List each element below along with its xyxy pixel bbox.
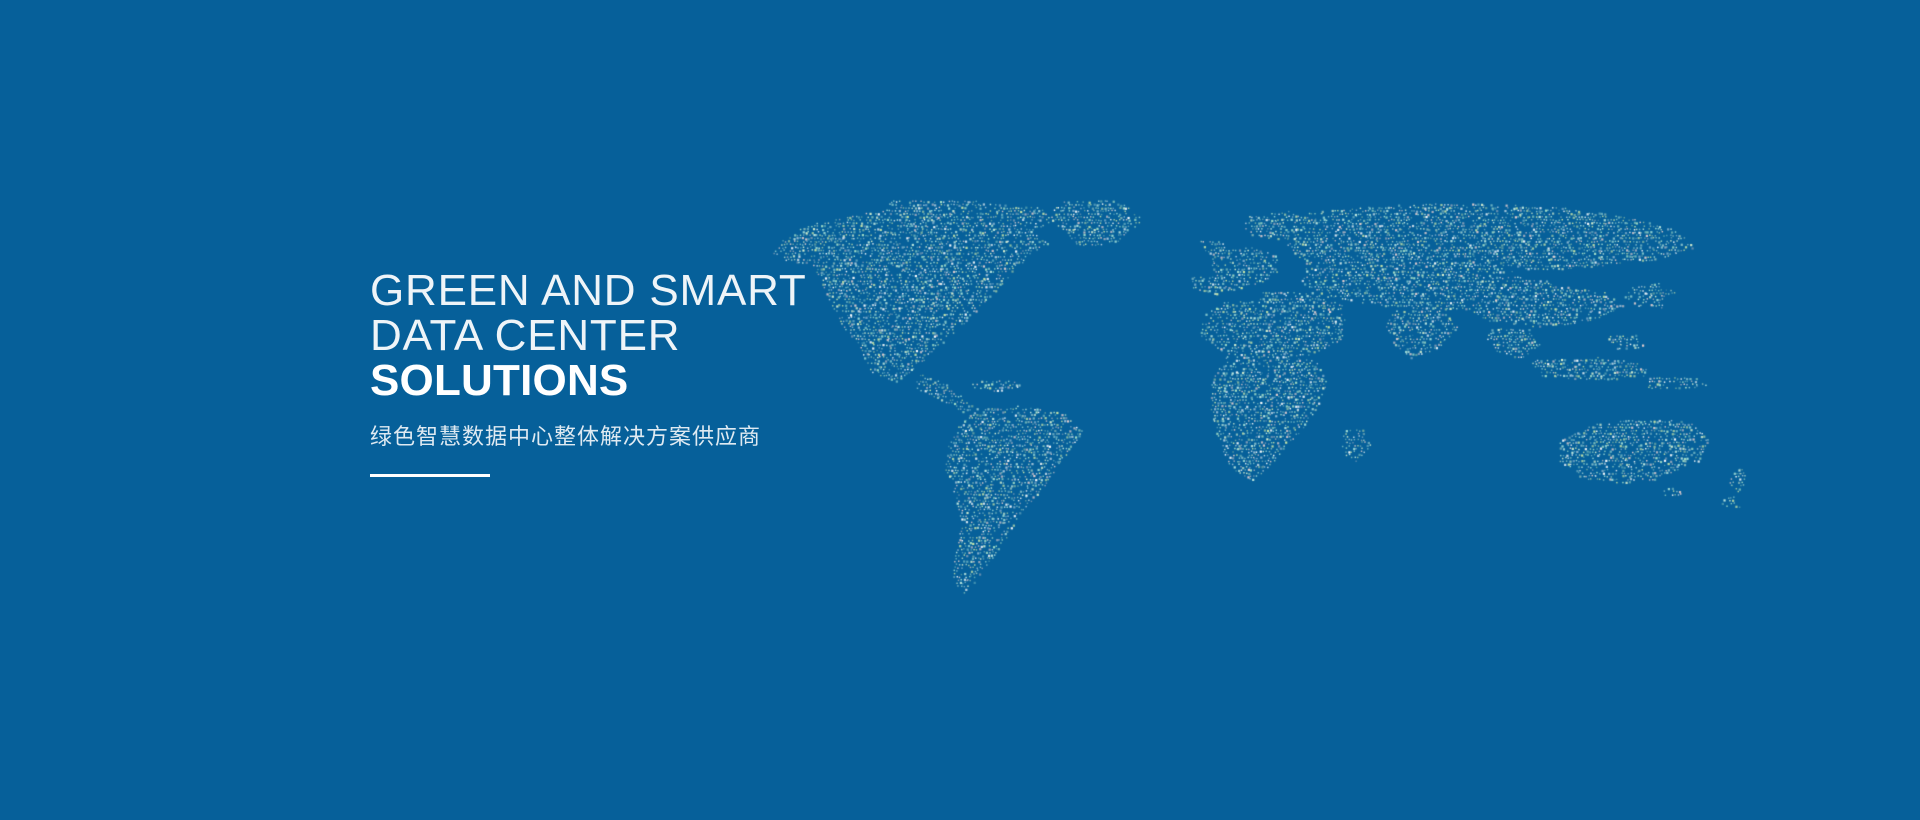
hero-text-block: GREEN AND SMART DATA CENTER SOLUTIONS 绿色… bbox=[370, 268, 1070, 477]
headline-line-3: SOLUTIONS bbox=[370, 358, 1070, 403]
accent-bar bbox=[370, 474, 490, 477]
hero-subtitle: 绿色智慧数据中心整体解决方案供应商 bbox=[370, 422, 1070, 452]
headline-line-1: GREEN AND SMART bbox=[370, 268, 1070, 313]
headline-line-2: DATA CENTER bbox=[370, 313, 1070, 358]
hero-banner: GREEN AND SMART DATA CENTER SOLUTIONS 绿色… bbox=[0, 0, 1920, 820]
